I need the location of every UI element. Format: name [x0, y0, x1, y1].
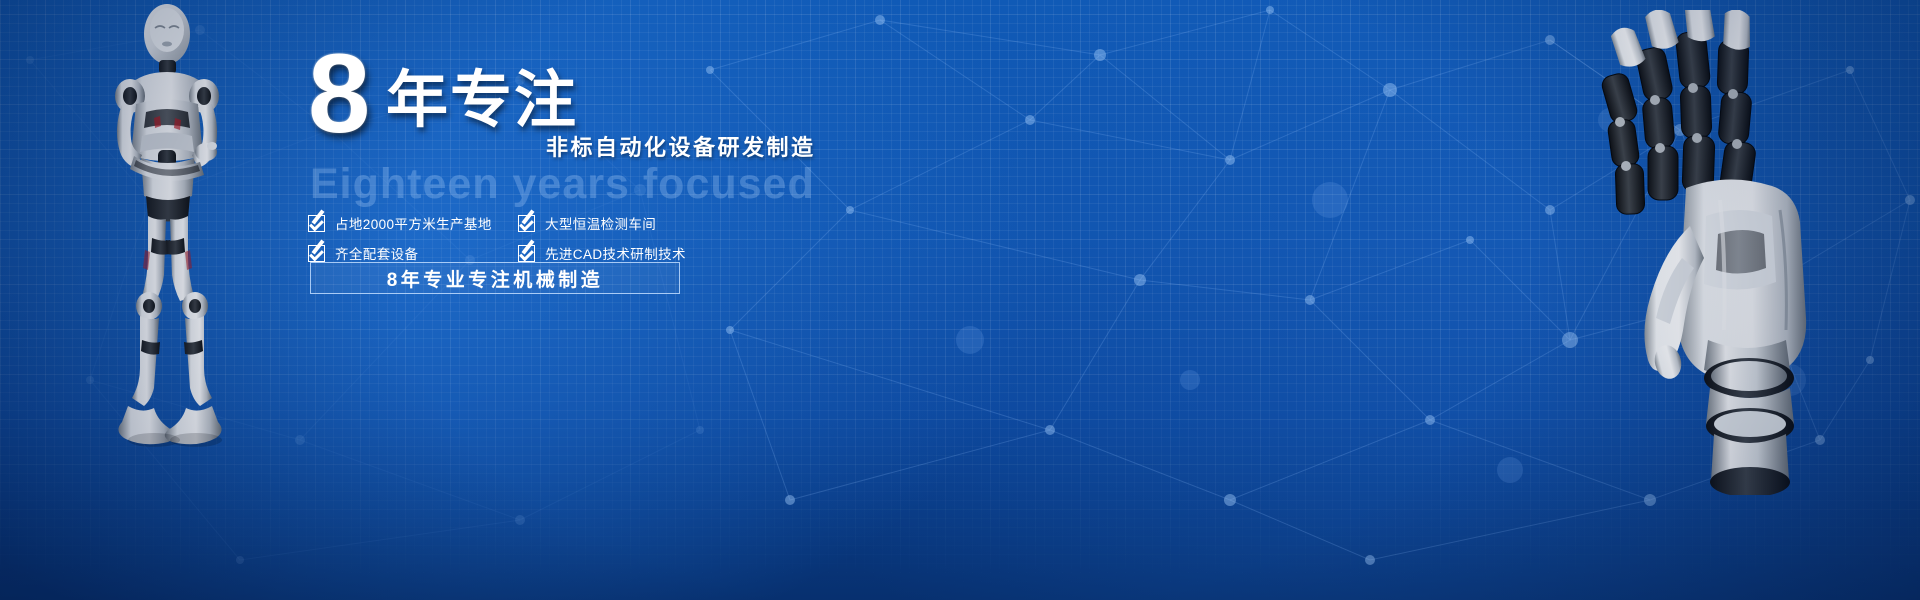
- feature-item: 齐全配套设备: [308, 243, 518, 263]
- checkbox-checked-icon: [308, 245, 325, 262]
- feature-list: 占地2000平方米生产基地 大型恒温检测车间 齐全配套设备 先进CAD技术研制技…: [308, 208, 708, 268]
- feature-label: 大型恒温检测车间: [545, 213, 656, 233]
- checkbox-checked-icon: [518, 215, 535, 232]
- feature-item: 占地2000平方米生产基地: [308, 213, 518, 233]
- ghost-tagline: Eighteen years focused: [310, 160, 815, 209]
- headline-number: 8: [308, 38, 368, 150]
- banner-content: 8 年专注 非标自动化设备研发制造 Eighteen years focused…: [308, 62, 1128, 312]
- headline-subtitle: 非标自动化设备研发制造: [546, 130, 816, 162]
- feature-item: 大型恒温检测车间: [518, 213, 708, 233]
- feature-item: 先进CAD技术研制技术: [518, 243, 708, 263]
- slogan-text: 8年专业专注机械制造: [387, 265, 604, 292]
- checkbox-checked-icon: [518, 245, 535, 262]
- feature-label: 齐全配套设备: [335, 243, 418, 263]
- slogan-ribbon: 8年专业专注机械制造: [310, 262, 680, 294]
- checkbox-checked-icon: [308, 215, 325, 232]
- hero-banner: 8 年专注 非标自动化设备研发制造 Eighteen years focused…: [0, 0, 1920, 600]
- feature-row: 占地2000平方米生产基地 大型恒温检测车间: [308, 208, 708, 238]
- feature-label: 占地2000平方米生产基地: [335, 213, 492, 233]
- feature-label: 先进CAD技术研制技术: [545, 243, 686, 263]
- headline-group: 8 年专注 非标自动化设备研发制造: [308, 62, 1128, 148]
- headline-chinese: 年专注: [386, 70, 578, 132]
